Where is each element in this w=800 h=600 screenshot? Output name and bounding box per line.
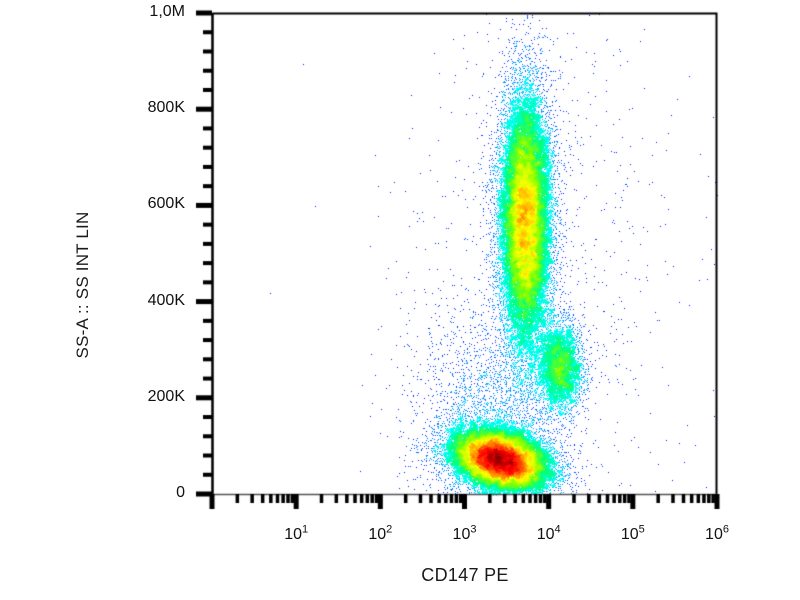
x-tick-label: 102 bbox=[368, 526, 392, 544]
x-tick-base: 10 bbox=[705, 526, 723, 543]
y-tick-label-text: 0 bbox=[176, 484, 185, 502]
x-tick-label: 106 bbox=[705, 526, 729, 544]
x-tick-label: 105 bbox=[621, 526, 645, 544]
x-tick-exponent: 1 bbox=[302, 524, 308, 536]
x-tick-label: 103 bbox=[453, 526, 477, 544]
density-scatter-canvas bbox=[0, 0, 800, 600]
x-tick-base: 10 bbox=[537, 526, 555, 543]
x-axis-label: CD147 PE bbox=[212, 565, 718, 586]
x-tick-exponent: 2 bbox=[386, 524, 392, 536]
y-tick-label-text: 800K bbox=[148, 99, 185, 117]
x-tick-label: 104 bbox=[537, 526, 561, 544]
y-tick-label-text: 200K bbox=[148, 388, 185, 406]
x-tick-base: 10 bbox=[621, 526, 639, 543]
y-axis-label: SS-A :: SS INT LIN bbox=[73, 175, 93, 395]
y-tick-label-text: 600K bbox=[148, 195, 185, 213]
x-tick-base: 10 bbox=[368, 526, 386, 543]
x-tick-exponent: 4 bbox=[554, 524, 560, 536]
x-tick-exponent: 6 bbox=[723, 524, 729, 536]
x-tick-label: 101 bbox=[284, 526, 308, 544]
y-tick-label-text: 400K bbox=[148, 292, 185, 310]
x-tick-exponent: 3 bbox=[470, 524, 476, 536]
x-tick-base: 10 bbox=[453, 526, 471, 543]
flow-cytometry-plot: SS-A :: SS INT LIN CD147 PE 0200K400K600… bbox=[0, 0, 800, 600]
x-tick-base: 10 bbox=[284, 526, 302, 543]
x-tick-exponent: 5 bbox=[639, 524, 645, 536]
y-tick-label-text: 1,0M bbox=[149, 3, 185, 21]
